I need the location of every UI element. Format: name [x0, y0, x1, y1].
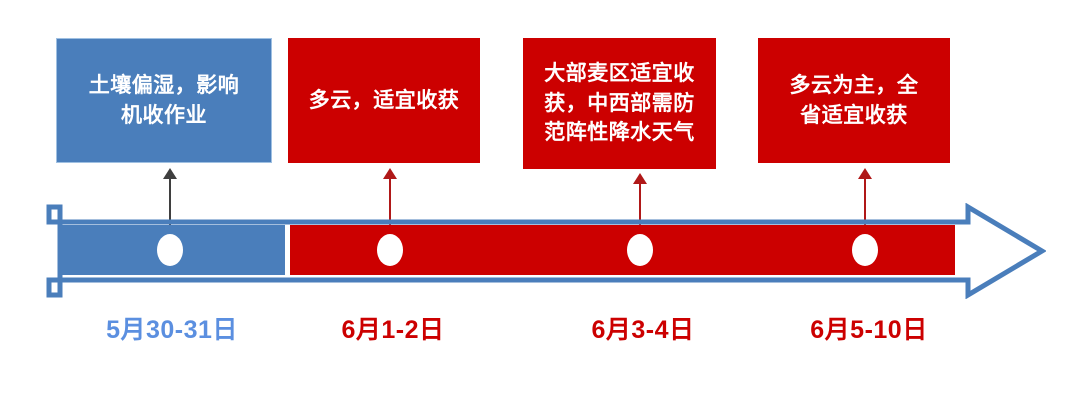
- callout-line: 范阵性降水天气: [544, 121, 695, 144]
- callout-line: 多云为主，全: [790, 74, 919, 97]
- callout-line: 机收作业: [121, 104, 207, 127]
- connector-arrowhead-icon: [383, 168, 397, 179]
- milestone-dot-3: [627, 234, 653, 266]
- timeline-diagram: 土壤偏湿，影响 机收作业 多云，适宜收获 大部麦区适宜收 获，中西部需防 范阵性…: [0, 0, 1080, 405]
- connector-arrowhead-icon: [633, 173, 647, 184]
- connector-arrowhead-icon: [163, 168, 177, 179]
- milestone-dot-2: [377, 234, 403, 266]
- callout-text-3: 大部麦区适宜收 获，中西部需防 范阵性降水天气: [532, 59, 707, 148]
- callout-box-1: 土壤偏湿，影响 机收作业: [56, 38, 272, 163]
- callout-text-1: 土壤偏湿，影响 机收作业: [65, 71, 263, 131]
- milestone-dot-4: [852, 234, 878, 266]
- callout-line: 土壤偏湿，影响: [89, 74, 240, 97]
- callout-box-4: 多云为主，全 省适宜收获: [758, 38, 950, 163]
- connector-arrowhead-icon: [858, 168, 872, 179]
- callout-line: 多云，适宜收获: [309, 89, 460, 112]
- callout-line: 省适宜收获: [800, 104, 908, 127]
- callout-text-4: 多云为主，全 省适宜收获: [767, 71, 941, 131]
- date-label-4: 6月5-10日: [754, 310, 984, 346]
- callout-line: 大部麦区适宜收: [544, 62, 695, 85]
- date-label-2: 6月1-2日: [278, 310, 508, 346]
- callout-text-2: 多云，适宜收获: [297, 86, 471, 116]
- date-label-3: 6月3-4日: [528, 310, 758, 346]
- milestone-dot-1: [157, 234, 183, 266]
- callout-line: 获，中西部需防: [544, 92, 695, 115]
- date-label-1: 5月30-31日: [57, 310, 287, 346]
- callout-box-3: 大部麦区适宜收 获，中西部需防 范阵性降水天气: [523, 38, 716, 169]
- callout-box-2: 多云，适宜收获: [288, 38, 480, 163]
